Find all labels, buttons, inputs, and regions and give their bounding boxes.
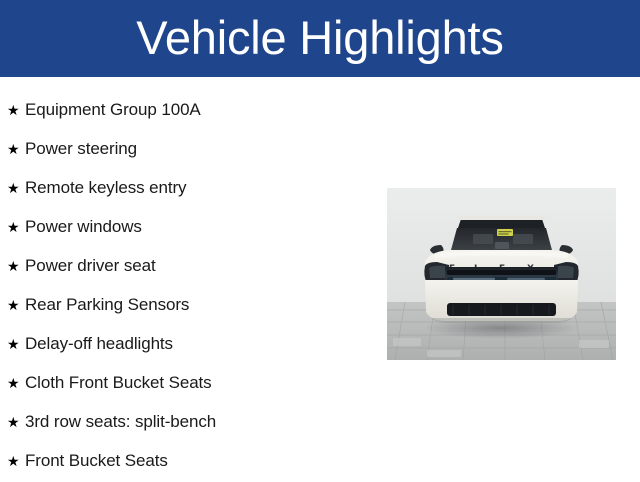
content-area: ★ Equipment Group 100A ★ Power steering … (0, 77, 640, 480)
list-item-label: Delay-off headlights (25, 324, 173, 363)
list-item: ★ Equipment Group 100A (7, 90, 379, 129)
list-item: ★ Remote keyless entry (7, 168, 379, 207)
list-item: ★ Cloth Front Bucket Seats (7, 363, 379, 402)
star-icon: ★ (7, 131, 25, 170)
list-item-label: 3rd row seats: split-bench (25, 402, 216, 441)
page-title: Vehicle Highlights (136, 14, 503, 64)
list-item: ★ 3rd row seats: split-bench (7, 402, 379, 441)
slide: Vehicle Highlights ★ Equipment Group 100… (0, 0, 640, 480)
star-icon: ★ (7, 209, 25, 248)
list-item-label: Front Bucket Seats (25, 441, 168, 480)
star-icon: ★ (7, 92, 25, 131)
star-icon: ★ (7, 170, 25, 209)
list-item: ★ Power steering (7, 129, 379, 168)
list-item-label: Rear Parking Sensors (25, 285, 189, 324)
list-item-label: Power windows (25, 207, 142, 246)
star-icon: ★ (7, 248, 25, 287)
vehicle-front-view-image: F L E X (387, 188, 616, 360)
star-icon: ★ (7, 443, 25, 482)
vehicle-photo: F L E X (387, 188, 616, 360)
list-item-label: Cloth Front Bucket Seats (25, 363, 212, 402)
list-item: ★ Power windows (7, 207, 379, 246)
list-item-label: Power driver seat (25, 246, 156, 285)
list-item-label: Equipment Group 100A (25, 90, 201, 129)
star-icon: ★ (7, 326, 25, 365)
list-item: ★ Power driver seat (7, 246, 379, 285)
star-icon: ★ (7, 404, 25, 443)
vehicle-highlights-list: ★ Equipment Group 100A ★ Power steering … (7, 90, 379, 480)
header-banner: Vehicle Highlights (0, 0, 640, 77)
star-icon: ★ (7, 287, 25, 326)
list-item: ★ Rear Parking Sensors (7, 285, 379, 324)
star-icon: ★ (7, 365, 25, 404)
list-item: ★ Delay-off headlights (7, 324, 379, 363)
list-item: ★ Front Bucket Seats (7, 441, 379, 480)
list-item-label: Remote keyless entry (25, 168, 186, 207)
list-item-label: Power steering (25, 129, 137, 168)
